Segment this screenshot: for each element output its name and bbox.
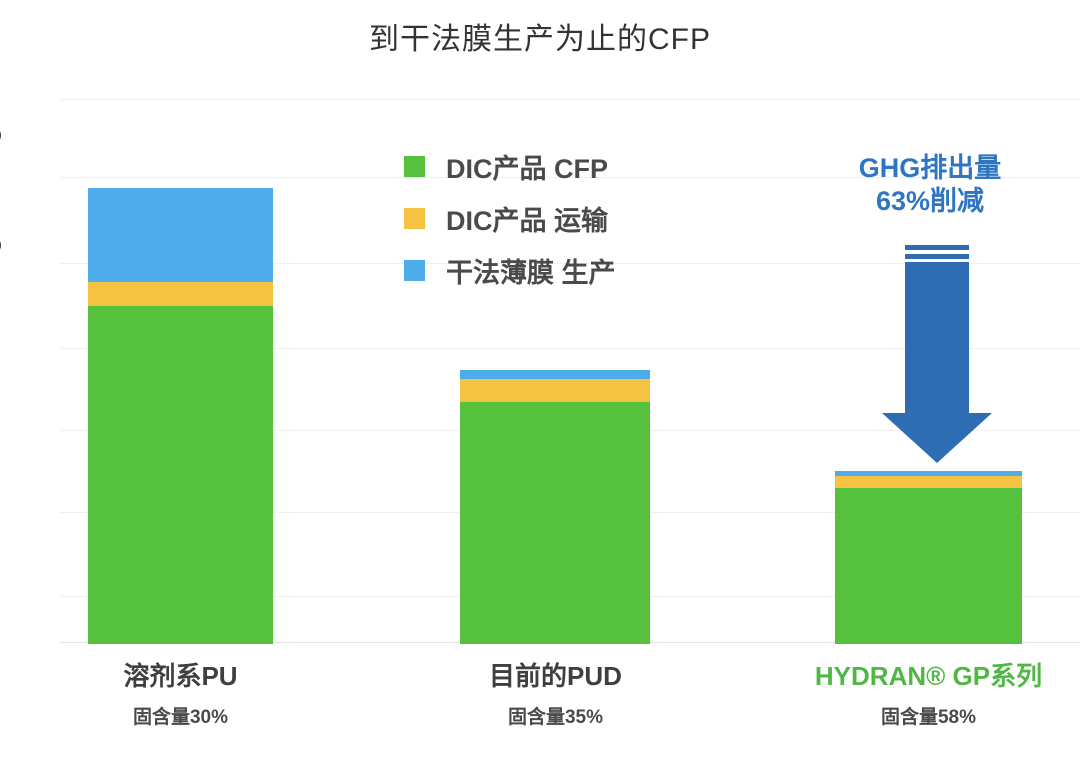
bar-hydran-gp[interactable] — [835, 471, 1022, 644]
reduction-arrow-icon — [882, 245, 992, 463]
bar-segment-transport[interactable] — [835, 476, 1022, 488]
category-sublabel: 固含量35% — [433, 702, 678, 729]
bar-segment-dry-film-production[interactable] — [460, 370, 650, 379]
callout-line-2: 63%削减 — [820, 185, 1040, 218]
category-label: 溶剂系PU — [58, 656, 303, 693]
legend-swatch-green-icon — [404, 156, 425, 177]
legend-item-transport[interactable]: DIC产品 运输 — [404, 192, 734, 244]
bar-segment-product-cfp[interactable] — [835, 488, 1022, 644]
category-label: HYDRAN® GP系列 — [806, 656, 1051, 693]
chart-legend: DIC产品 CFP DIC产品 运输 干法薄膜 生产 — [404, 140, 734, 296]
legend-swatch-orange-icon — [404, 208, 425, 229]
category-current-pud: 目前的PUD 固含量35% — [433, 656, 678, 729]
legend-label: DIC产品 CFP — [446, 147, 608, 186]
bar-segment-dry-film-production[interactable] — [88, 188, 273, 282]
bar-segment-product-cfp[interactable] — [88, 306, 273, 644]
legend-swatch-blue-icon — [404, 260, 425, 281]
bar-solvent-pu[interactable] — [88, 188, 273, 644]
category-sublabel: 固含量30% — [58, 702, 303, 729]
legend-item-product-cfp[interactable]: DIC产品 CFP — [404, 140, 734, 192]
page-title: 到干法膜生产为止的CFP — [0, 14, 1080, 58]
category-label: 目前的PUD — [433, 656, 678, 693]
reduction-callout: GHG排出量 63%削减 — [820, 152, 1040, 219]
y-axis-title: ＧＨＧ排出量（kg-CO2e/kg） — [0, 52, 8, 492]
bar-segment-transport[interactable] — [88, 282, 273, 306]
legend-label: DIC产品 运输 — [446, 199, 608, 238]
gridline — [60, 99, 1080, 100]
category-hydran-gp: HYDRAN® GP系列 固含量58% — [806, 656, 1051, 729]
legend-label: 干法薄膜 生产 — [446, 251, 616, 290]
category-solvent-pu: 溶剂系PU 固含量30% — [58, 656, 303, 729]
bar-current-pud[interactable] — [460, 370, 650, 644]
legend-item-dry-film-production[interactable]: 干法薄膜 生产 — [404, 244, 734, 296]
callout-line-1: GHG排出量 — [820, 152, 1040, 185]
category-sublabel: 固含量58% — [806, 702, 1051, 729]
bar-segment-product-cfp[interactable] — [460, 402, 650, 644]
bar-segment-transport[interactable] — [460, 379, 650, 402]
arrow-shape-icon — [882, 245, 992, 463]
